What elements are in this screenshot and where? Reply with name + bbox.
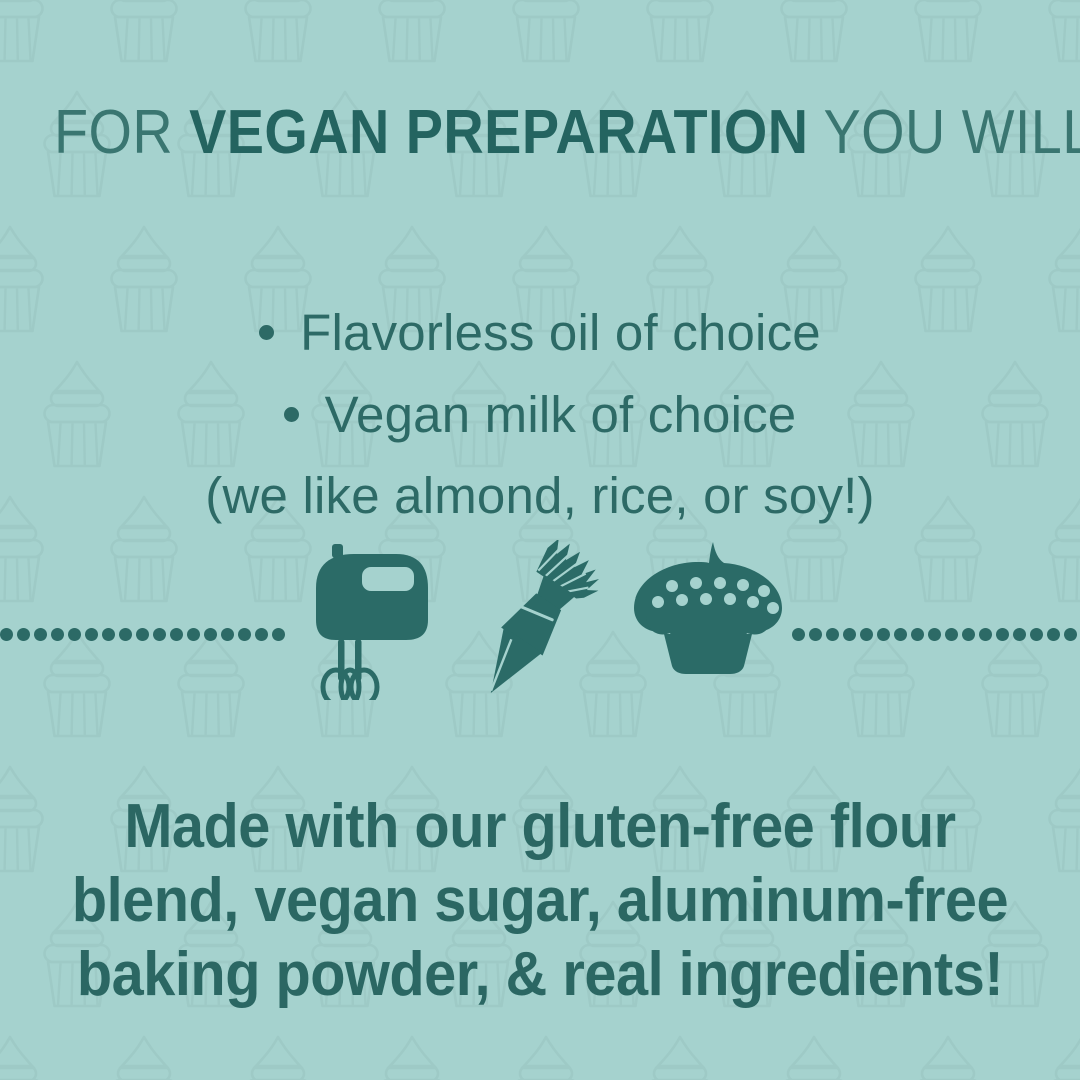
- divider-dot: [272, 628, 285, 641]
- divider-dot: [826, 628, 839, 641]
- product-statement: Made with our gluten-free flour blend, v…: [38, 790, 1042, 1012]
- baking-icon-row: [300, 540, 800, 715]
- divider-dots-right: [792, 628, 1080, 642]
- statement-line: Made with our gluten-free flour: [38, 790, 1042, 864]
- divider-dot: [928, 628, 941, 641]
- divider-dot: [809, 628, 822, 641]
- divider-dot: [102, 628, 115, 641]
- cupcake-icon: [630, 540, 790, 675]
- divider-dot: [17, 628, 30, 641]
- divider-dot: [153, 628, 166, 641]
- bullet-dot-icon: [259, 325, 274, 340]
- divider-dot: [187, 628, 200, 641]
- piping-bag-icon: [470, 540, 605, 710]
- divider-dot: [170, 628, 183, 641]
- list-item-label: Flavorless oil of choice: [300, 304, 821, 361]
- divider-dot: [979, 628, 992, 641]
- divider-dot: [119, 628, 132, 641]
- divider-dot: [255, 628, 268, 641]
- divider-dot: [894, 628, 907, 641]
- divider-dot: [843, 628, 856, 641]
- title-prefix: FOR: [54, 98, 189, 167]
- divider-dot: [1064, 628, 1077, 641]
- bullet-dot-icon: [284, 407, 299, 422]
- statement-line: baking powder, & real ingredients!: [38, 938, 1042, 1012]
- divider-dot: [221, 628, 234, 641]
- divider-dot: [68, 628, 81, 641]
- list-item: Vegan milk of choice: [0, 374, 1080, 456]
- title-suffix: YOU WILL NEED: [809, 98, 1080, 167]
- title-emphasis: VEGAN PREPARATION: [189, 98, 808, 167]
- list-item: Flavorless oil of choice: [0, 292, 1080, 374]
- list-item-label: Vegan milk of choice: [325, 386, 797, 443]
- divider-dot: [996, 628, 1009, 641]
- divider-dot: [51, 628, 64, 641]
- divider-dot: [136, 628, 149, 641]
- divider-dot: [1013, 628, 1026, 641]
- divider-dot: [0, 628, 13, 641]
- divider-dot: [911, 628, 924, 641]
- statement-line: blend, vegan sugar, aluminum-free: [38, 864, 1042, 938]
- divider-dot: [204, 628, 217, 641]
- divider-dot: [238, 628, 251, 641]
- hand-mixer-icon: [310, 540, 440, 700]
- divider-dot: [85, 628, 98, 641]
- divider-dots-left: [0, 628, 292, 642]
- divider-dot: [945, 628, 958, 641]
- page-title: FOR VEGAN PREPARATION YOU WILL NEED: [54, 98, 1026, 168]
- divider-dot: [860, 628, 873, 641]
- divider-dot: [877, 628, 890, 641]
- divider-dot: [34, 628, 47, 641]
- poster-canvas: FOR VEGAN PREPARATION YOU WILL NEED Flav…: [0, 0, 1080, 1080]
- divider-dot: [1047, 628, 1060, 641]
- ingredient-note: (we like almond, rice, or soy!): [0, 456, 1080, 536]
- divider-dot: [962, 628, 975, 641]
- divider-dot: [1030, 628, 1043, 641]
- ingredient-list: Flavorless oil of choice Vegan milk of c…: [0, 292, 1080, 536]
